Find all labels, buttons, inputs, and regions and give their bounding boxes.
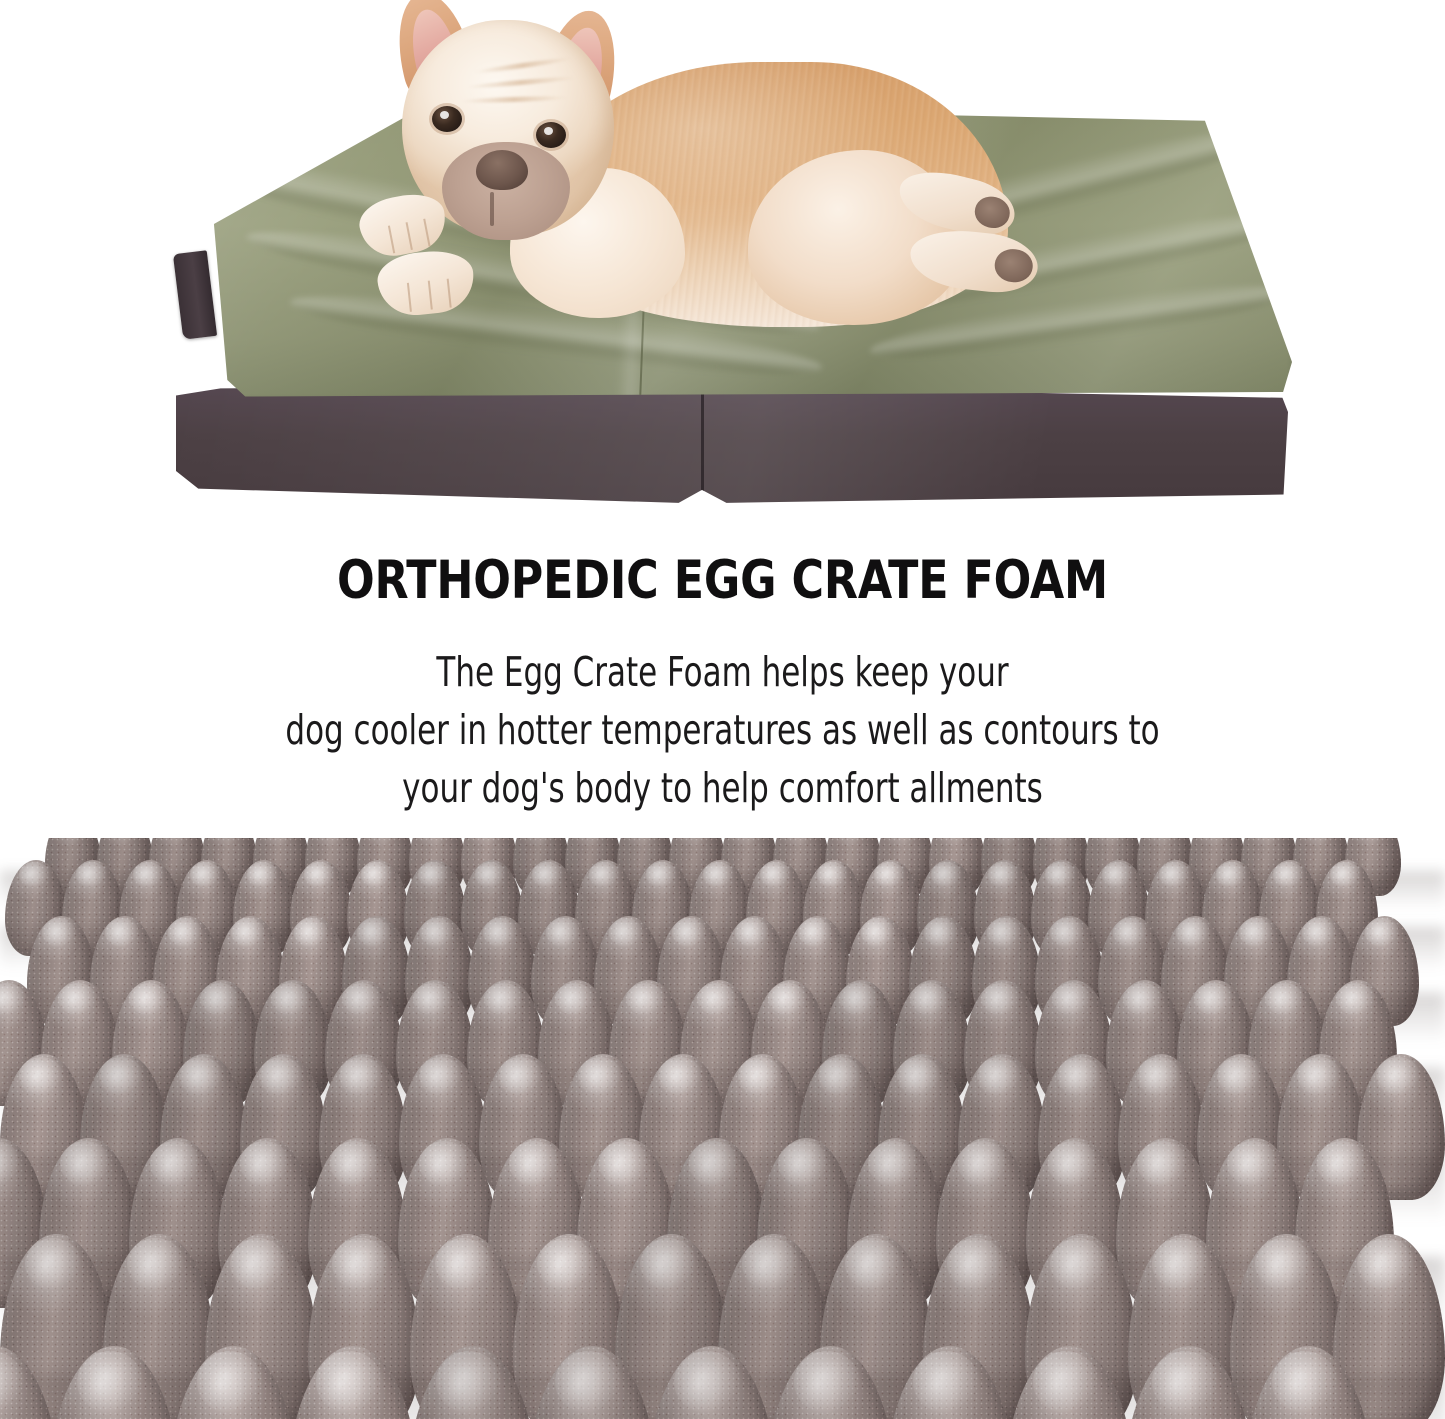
foam-bump — [765, 1346, 896, 1419]
foam-bump — [1123, 1346, 1254, 1419]
foam-bump-highlight — [1297, 1057, 1341, 1095]
foam-bump-highlight — [60, 1141, 109, 1185]
dog-toe-line — [406, 222, 413, 250]
foam-bump-highlight — [735, 918, 770, 947]
dog-bed-side-panel — [176, 386, 1288, 504]
foam-bump-highlight — [419, 1141, 468, 1185]
foam-bump-highlight — [42, 918, 77, 947]
foam-bump-highlight — [1272, 1351, 1338, 1413]
foam-bump — [0, 1346, 60, 1419]
foam-bump-highlight — [361, 862, 392, 887]
foam-bump-highlight — [1273, 862, 1304, 887]
foam-bump-highlight — [778, 1141, 827, 1185]
foam-bump-highlight — [0, 1141, 20, 1185]
foam-bump-highlight — [342, 983, 381, 1016]
foam-bump — [407, 1346, 538, 1419]
foam-bump — [168, 1346, 299, 1419]
foam-bump — [884, 1346, 1015, 1419]
foam-bump-highlight — [179, 1057, 223, 1095]
body-line-3: your dog's body to help comfort allments — [116, 759, 1330, 817]
foam-bump-highlight — [1336, 983, 1375, 1016]
dog-forehead-wrinkle — [474, 56, 571, 75]
feature-headline: ORTHOPEDIC EGG CRATE FOAM — [51, 530, 1395, 607]
foam-bump-highlight — [1217, 1057, 1261, 1095]
foam-bump-highlight — [981, 983, 1020, 1016]
foam-bump-highlight — [197, 1351, 263, 1413]
foam-bump-highlight — [703, 862, 734, 887]
foam-bump-highlight — [924, 918, 959, 947]
foam-bump-highlight — [910, 983, 949, 1016]
dog-eye-right — [536, 122, 566, 148]
foam-bump-highlight — [1033, 1351, 1099, 1413]
foam-bump-highlight — [1376, 1057, 1420, 1095]
foam-bump-highlight — [435, 1238, 491, 1290]
foam-bump-highlight — [436, 1351, 502, 1413]
foam-bump-highlight — [818, 1057, 862, 1095]
dog-forehead-wrinkle — [461, 96, 567, 105]
foam-bump-highlight — [817, 862, 848, 887]
foam-bump — [646, 1346, 777, 1419]
foam-bump-highlight — [738, 1057, 782, 1095]
foam-bump-highlight — [150, 1141, 199, 1185]
foam-bump-highlight — [988, 862, 1019, 887]
foam-bump-highlight — [1330, 862, 1361, 887]
foam-bump-highlight — [0, 1351, 24, 1413]
foam-bump-highlight — [316, 1351, 382, 1413]
foam-bump-highlight — [190, 862, 221, 887]
foam-bump-highlight — [977, 1057, 1021, 1095]
foam-bump-highlight — [1176, 918, 1211, 947]
foam-bump-highlight — [861, 918, 896, 947]
foam-bump-highlight — [231, 918, 266, 947]
foam-bump-highlight — [599, 1141, 648, 1185]
foam-bump-highlight — [689, 1141, 738, 1185]
foam-bump-highlight — [0, 983, 26, 1016]
foam-bump-highlight — [947, 1238, 1003, 1290]
foam-bump-highlight — [294, 918, 329, 947]
foam-bump-highlight — [127, 1238, 183, 1290]
foam-bump-highlight — [105, 918, 140, 947]
foam-bump-highlight — [1048, 1141, 1097, 1185]
foam-bump-highlight — [1050, 1238, 1106, 1290]
foam-bump-highlight — [200, 983, 239, 1016]
foam-bump-highlight — [1113, 918, 1148, 947]
foam-bump-highlight — [25, 1238, 81, 1290]
foam-bump-highlight — [76, 862, 107, 887]
foam-bump-highlight — [794, 1351, 860, 1413]
foam-bump-highlight — [475, 862, 506, 887]
foam-bump-highlight — [1317, 1141, 1366, 1185]
foam-bump-highlight — [958, 1141, 1007, 1185]
foam-bump-highlight — [1255, 1238, 1311, 1290]
foam-bump-highlight — [240, 1141, 289, 1185]
body-line-1: The Egg Crate Foam helps keep your — [116, 643, 1330, 701]
foam-bump-highlight — [1123, 983, 1162, 1016]
foam-bump-highlight — [19, 862, 50, 887]
foam-bump-highlight — [498, 1057, 542, 1095]
dog-forehead-wrinkle — [466, 75, 576, 90]
foam-row — [0, 1346, 1374, 1419]
foam-bump-highlight — [674, 1351, 740, 1413]
body-line-2: dog cooler in hotter temperatures as wel… — [116, 701, 1330, 759]
foam-bump-highlight — [532, 862, 563, 887]
foam-bump-highlight — [742, 1238, 798, 1290]
dog-toe-line — [407, 282, 412, 312]
foam-bump-highlight — [546, 918, 581, 947]
side-panel-sheen — [176, 386, 1288, 504]
foam-bump-highlight — [1152, 1238, 1208, 1290]
french-bulldog — [350, 0, 1070, 400]
foam-bump-highlight — [1365, 918, 1400, 947]
foam-bump-highlight — [483, 918, 518, 947]
foam-bump-highlight — [133, 862, 164, 887]
foam-bump-highlight — [509, 1141, 558, 1185]
foam-bump-highlight — [537, 1238, 593, 1290]
foam-bump-highlight — [168, 918, 203, 947]
foam-bump-highlight — [413, 983, 452, 1016]
foam-bump-highlight — [1357, 1238, 1413, 1290]
foam-bump-highlight — [555, 1351, 621, 1413]
foam-bump-highlight — [672, 918, 707, 947]
foam-bump-highlight — [578, 1057, 622, 1095]
foam-bump-highlight — [646, 862, 677, 887]
foam-bump-highlight — [931, 862, 962, 887]
foam-bump-highlight — [1302, 918, 1337, 947]
foam-bump-highlight — [129, 983, 168, 1016]
bed-fold-seam — [701, 386, 704, 504]
foam-bump-highlight — [58, 983, 97, 1016]
foam-bump-highlight — [845, 1238, 901, 1290]
foam-bump-highlight — [419, 1057, 463, 1095]
foam-bump — [526, 1346, 657, 1419]
dog-front-paw-lower — [375, 247, 477, 319]
foam-bump-highlight — [874, 862, 905, 887]
foam-bump-highlight — [271, 983, 310, 1016]
foam-bump-highlight — [259, 1057, 303, 1095]
dog-eye-left — [432, 106, 462, 132]
dog-toe-line — [428, 280, 433, 310]
foam-bump-highlight — [77, 1351, 143, 1413]
foam-bump — [287, 1346, 418, 1419]
foam-bump-highlight — [1239, 918, 1274, 947]
foam-bump-highlight — [868, 1141, 917, 1185]
foam-bump — [48, 1346, 179, 1419]
foam-bump-highlight — [230, 1238, 286, 1290]
foam-bump-highlight — [697, 983, 736, 1016]
foam-bump-highlight — [555, 983, 594, 1016]
foam-bump-highlight — [1227, 1141, 1276, 1185]
foam-bump-highlight — [798, 918, 833, 947]
foam-bump-highlight — [897, 1057, 941, 1095]
foam-bump-highlight — [418, 862, 449, 887]
foam-bump-highlight — [1102, 862, 1133, 887]
foam-bump-highlight — [304, 862, 335, 887]
foam-bump-highlight — [332, 1238, 388, 1290]
foam-bump-highlight — [913, 1351, 979, 1413]
foam-bump-highlight — [1050, 918, 1085, 947]
egg-crate-foam-photo — [0, 838, 1445, 1419]
foam-bump-highlight — [420, 918, 455, 947]
foam-bump-highlight — [339, 1057, 383, 1095]
foam-bump-highlight — [1159, 862, 1190, 887]
foam-bump-highlight — [247, 862, 278, 887]
foam-bump-highlight — [1216, 862, 1247, 887]
dog-paw-pad — [971, 193, 1013, 232]
foam-bump-highlight — [1045, 862, 1076, 887]
foam-bump-highlight — [626, 983, 665, 1016]
dog-toe-line — [387, 225, 394, 253]
foam-bump-highlight — [1194, 983, 1233, 1016]
dog-nose — [476, 150, 528, 190]
foam-bump-highlight — [1057, 1057, 1101, 1095]
foam-bump-highlight — [99, 1057, 143, 1095]
foam-bump-highlight — [1052, 983, 1091, 1016]
foam-bump-highlight — [760, 862, 791, 887]
product-feature-image: ORTHOPEDIC EGG CRATE FOAM The Egg Crate … — [0, 0, 1445, 1419]
bed-carry-handle — [173, 250, 217, 340]
foam-bump-highlight — [589, 862, 620, 887]
foam-bump-highlight — [357, 918, 392, 947]
feature-body-copy: The Egg Crate Foam helps keep your dog c… — [116, 607, 1330, 818]
foam-bump-highlight — [609, 918, 644, 947]
dog-mouth — [490, 192, 494, 226]
foam-bump-highlight — [484, 983, 523, 1016]
foam-bump — [1004, 1346, 1135, 1419]
dog-paw-pad — [993, 247, 1035, 284]
foam-bump-highlight — [768, 983, 807, 1016]
dog-toe-line — [447, 278, 452, 308]
foam-bump-highlight — [1152, 1351, 1218, 1413]
foam-bump-highlight — [987, 918, 1022, 947]
foam-bump-highlight — [19, 1057, 63, 1095]
foam-bump — [1243, 1346, 1374, 1419]
foam-bump-highlight — [1265, 983, 1304, 1016]
feature-copy-block: ORTHOPEDIC EGG CRATE FOAM The Egg Crate … — [0, 530, 1445, 840]
foam-bump-highlight — [658, 1057, 702, 1095]
foam-bump-highlight — [1137, 1057, 1181, 1095]
foam-bump-highlight — [1137, 1141, 1186, 1185]
dog-toe-line — [423, 218, 430, 246]
foam-bump-highlight — [640, 1238, 696, 1290]
foam-bump-highlight — [839, 983, 878, 1016]
foam-bump-highlight — [330, 1141, 379, 1185]
product-photo-dog-on-bed — [0, 0, 1445, 530]
